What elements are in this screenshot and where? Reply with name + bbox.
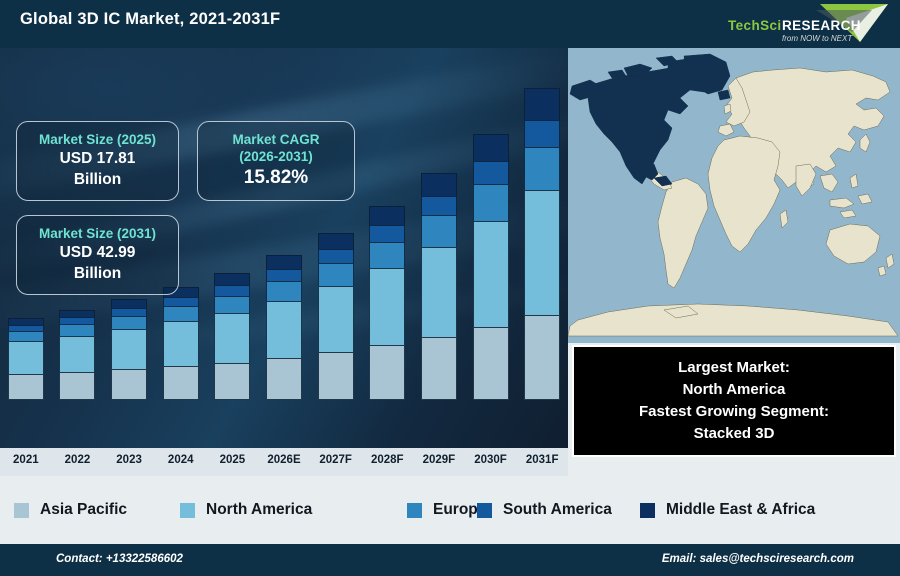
fastest-segment-label: Fastest Growing Segment: (639, 401, 829, 423)
bar-2024 (163, 287, 199, 400)
footer-bar: Contact: +13322586602 Email: sales@techs… (0, 544, 900, 576)
bar-segment-middle-east-africa (473, 134, 509, 162)
bar-2031F (524, 88, 560, 400)
bar-segment-europe (524, 147, 560, 191)
bar-segment-north-america (524, 190, 560, 316)
bar-segment-south-america (318, 249, 354, 264)
bar-segment-north-america (318, 286, 354, 353)
bar-segment-europe (421, 215, 457, 247)
bar-2023 (111, 299, 147, 400)
bar-segment-north-america (214, 313, 250, 364)
bar-segment-middle-east-africa (369, 206, 405, 226)
bar-segment-asia-pacific (318, 352, 354, 400)
legend-item-middle-east-africa[interactable]: Middle East & Africa (640, 501, 815, 519)
stat-value: USD 17.81 (17, 148, 178, 169)
bar-segment-asia-pacific (266, 358, 302, 400)
world-map (568, 48, 900, 343)
bar-segment-asia-pacific (111, 369, 147, 400)
bar-segment-asia-pacific (524, 315, 560, 400)
fastest-segment-value: Stacked 3D (694, 423, 775, 445)
bar-segment-europe (369, 242, 405, 270)
stat-label: Market Size (2031) (17, 225, 178, 242)
stat-card-market-size-2025: Market Size (2025) USD 17.81 Billion (16, 121, 179, 201)
stat-label: Market Size (2025) (17, 131, 178, 148)
bar-segment-asia-pacific (214, 363, 250, 400)
header-bar: Global 3D IC Market, 2021-2031F TechSci … (0, 0, 900, 48)
bar-segment-middle-east-africa (524, 88, 560, 121)
legend-swatch-icon (407, 503, 422, 518)
largest-market-value: North America (683, 379, 786, 401)
legend-swatch-icon (640, 503, 655, 518)
bar-segment-north-america (8, 341, 44, 375)
legend-label: South America (503, 501, 612, 519)
bar-segment-north-america (266, 301, 302, 359)
techsci-research-logo: TechSci RESEARCH from NOW to NEXT (720, 2, 892, 46)
stat-card-market-cagr: Market CAGR (2026-2031) 15.82% (197, 121, 355, 201)
bar-2030F (473, 134, 509, 400)
bar-2029F (421, 173, 457, 400)
stat-value: 15.82% (198, 165, 354, 191)
chart-legend: Asia PacificNorth AmericaEuropeSouth Ame… (0, 476, 900, 544)
bar-segment-europe (111, 316, 147, 330)
bar-segment-north-america (421, 247, 457, 338)
bar-segment-asia-pacific (59, 372, 95, 400)
market-highlight-box: Largest Market: North America Fastest Gr… (572, 345, 896, 457)
legend-label: North America (206, 501, 312, 519)
svg-text:TechSci: TechSci (728, 18, 782, 33)
bar-segment-south-america (473, 161, 509, 185)
stat-label-period: (2026-2031) (198, 148, 354, 165)
largest-market-label: Largest Market: (678, 357, 790, 379)
legend-swatch-icon (180, 503, 195, 518)
bar-segment-north-america (369, 268, 405, 346)
bar-segment-asia-pacific (369, 345, 405, 400)
bar-segment-north-america (111, 329, 147, 370)
bar-segment-north-america (163, 321, 199, 367)
legend-label: Asia Pacific (40, 501, 127, 519)
svg-text:from NOW to NEXT: from NOW to NEXT (782, 34, 853, 43)
bar-segment-asia-pacific (473, 327, 509, 400)
bar-segment-europe (318, 263, 354, 287)
bar-segment-south-america (421, 196, 457, 216)
bar-2021 (8, 318, 44, 400)
bar-2026E (266, 255, 302, 400)
bar-segment-europe (473, 184, 509, 222)
stat-value-unit: Billion (17, 169, 178, 190)
legend-item-asia-pacific[interactable]: Asia Pacific (14, 501, 127, 519)
bar-segment-south-america (369, 225, 405, 243)
bar-segment-middle-east-africa (318, 233, 354, 251)
bar-segment-asia-pacific (421, 337, 457, 400)
svg-text:RESEARCH: RESEARCH (782, 18, 861, 33)
stat-label: Market CAGR (198, 131, 354, 148)
bar-segment-europe (266, 281, 302, 301)
page-title: Global 3D IC Market, 2021-2031F (20, 10, 280, 29)
contact-phone: Contact: +13322586602 (56, 553, 183, 565)
stat-card-market-size-2031: Market Size (2031) USD 42.99 Billion (16, 215, 179, 295)
bar-segment-europe (163, 306, 199, 322)
contact-email: Email: sales@techsciresearch.com (662, 553, 854, 565)
bar-segment-asia-pacific (8, 374, 44, 400)
bar-2025 (214, 273, 250, 400)
x-axis-tick-2031F: 2031F (512, 454, 572, 466)
x-axis: 202120222023202420252026E2027F2028F2029F… (0, 448, 568, 476)
bar-2022 (59, 310, 95, 400)
chart-panel: Market Size (2025) USD 17.81 Billion Mar… (0, 48, 568, 448)
bar-segment-middle-east-africa (421, 173, 457, 197)
bar-2027F (318, 233, 354, 400)
bar-segment-north-america (473, 221, 509, 328)
bar-segment-asia-pacific (163, 366, 199, 400)
stat-value: USD 42.99 (17, 242, 178, 263)
bar-segment-middle-east-africa (266, 255, 302, 270)
legend-item-south-america[interactable]: South America (477, 501, 612, 519)
bar-2028F (369, 206, 405, 400)
legend-item-europe[interactable]: Europe (407, 501, 486, 519)
legend-label: Middle East & Africa (666, 501, 815, 519)
bar-segment-north-america (59, 336, 95, 373)
stat-value-unit: Billion (17, 263, 178, 284)
bar-segment-south-america (524, 120, 560, 148)
legend-swatch-icon (477, 503, 492, 518)
bar-segment-europe (214, 296, 250, 314)
infographic-page: Global 3D IC Market, 2021-2031F TechSci … (0, 0, 900, 576)
legend-item-north-america[interactable]: North America (180, 501, 312, 519)
legend-swatch-icon (14, 503, 29, 518)
